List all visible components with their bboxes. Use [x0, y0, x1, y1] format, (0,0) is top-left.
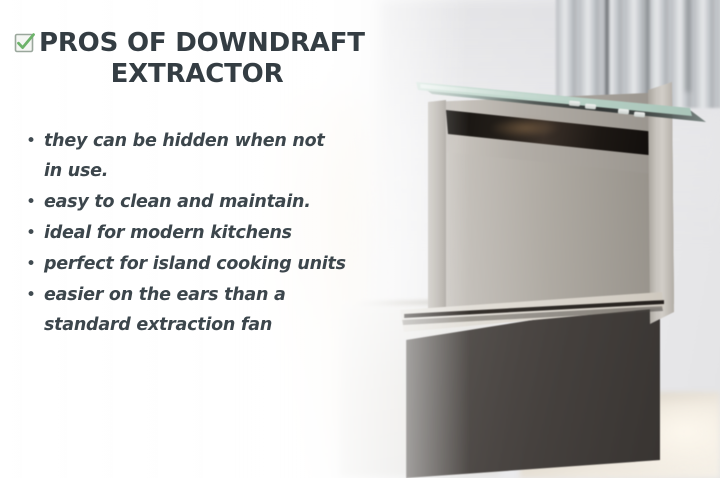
pros-bullet-list: • they can be hidden when not in use. • …: [22, 126, 412, 341]
bullet-marker-icon: •: [22, 126, 44, 156]
list-item: • they can be hidden when not in use.: [22, 126, 412, 186]
page-title: PROS OF DOWNDRAFT EXTRACTOR: [14, 28, 364, 89]
list-item-text: ideal for modern kitchens: [44, 218, 292, 248]
list-item-text: easy to clean and maintain.: [44, 187, 311, 217]
list-item-line-1: perfect for island cooking units: [44, 254, 346, 274]
list-item: • easy to clean and maintain.: [22, 187, 412, 217]
bullet-marker-icon: •: [22, 280, 44, 310]
title-line-1: PROS OF DOWNDRAFT: [39, 28, 365, 59]
list-item: • easier on the ears than a standard ext…: [22, 280, 412, 340]
bullet-marker-icon: •: [22, 249, 44, 279]
list-item: • perfect for island cooking units: [22, 249, 412, 279]
list-item-line-2: in use.: [44, 156, 325, 186]
list-item-text: they can be hidden when not in use.: [44, 126, 325, 186]
list-item-line-1: they can be hidden when not: [44, 131, 325, 151]
checkbox-checked-icon: [14, 32, 36, 54]
list-item: • ideal for modern kitchens: [22, 218, 412, 248]
title-line-1-row: PROS OF DOWNDRAFT: [14, 28, 364, 59]
bullet-marker-icon: •: [22, 187, 44, 217]
slide-content: PROS OF DOWNDRAFT EXTRACTOR • they can b…: [0, 0, 720, 478]
bullet-marker-icon: •: [22, 218, 44, 248]
list-item-text: perfect for island cooking units: [44, 249, 346, 279]
list-item-line-1: easier on the ears than a: [44, 285, 286, 305]
title-line-2: EXTRACTOR: [14, 59, 364, 90]
list-item-line-2: standard extraction fan: [44, 310, 286, 340]
list-item-line-1: ideal for modern kitchens: [44, 223, 292, 243]
list-item-text: easier on the ears than a standard extra…: [44, 280, 286, 340]
slide-canvas: PROS OF DOWNDRAFT EXTRACTOR • they can b…: [0, 0, 720, 478]
list-item-line-1: easy to clean and maintain.: [44, 192, 311, 212]
